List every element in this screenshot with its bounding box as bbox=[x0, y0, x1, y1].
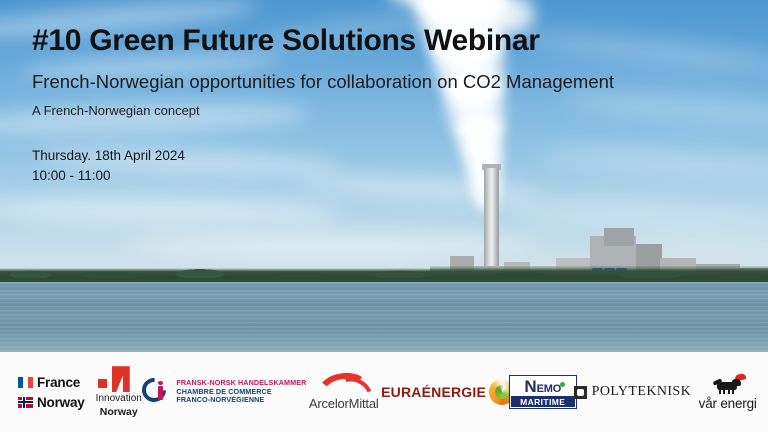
innovation-label: Innovation bbox=[96, 394, 142, 405]
nemo-maritime-box-icon: N EMO MARITIME bbox=[509, 375, 577, 409]
polyteknisk-square-icon bbox=[574, 386, 587, 399]
france-row: France bbox=[18, 375, 80, 390]
poster-concept: A French-Norwegian concept bbox=[32, 103, 692, 118]
innovation-norway-n-mark-icon bbox=[98, 366, 140, 392]
nemo-emo-letters: EMO bbox=[537, 384, 561, 395]
poster-subtitle: French-Norwegian opportunities for colla… bbox=[32, 71, 692, 93]
event-time: 10:00 - 11:00 bbox=[32, 168, 692, 183]
poster-text-block: #10 Green Future Solutions Webinar Frenc… bbox=[32, 24, 692, 183]
logo-nemo-maritime: N EMO MARITIME bbox=[508, 352, 577, 432]
arcelormittal-arc-icon bbox=[317, 373, 371, 395]
nemo-wordmark: N EMO bbox=[524, 378, 561, 395]
page-title: #10 Green Future Solutions Webinar bbox=[32, 24, 692, 57]
cci-line-3: FRANCO-NORVÉGIENNE bbox=[176, 396, 306, 405]
polyteknisk-label: POLYTEKNISK bbox=[592, 384, 691, 400]
logo-innovation-norway: Innovation Norway bbox=[88, 352, 149, 432]
maritime-label: MARITIME bbox=[511, 396, 575, 407]
norway-flag-icon bbox=[18, 397, 33, 408]
cci-monogram-icon bbox=[142, 378, 170, 406]
norway-label: Norway bbox=[37, 395, 85, 410]
france-flag-icon bbox=[18, 377, 33, 388]
partner-logo-bar: France Norway Innovation Norway bbox=[0, 352, 768, 432]
plant-building bbox=[604, 228, 634, 246]
cci-text-lines: FRANSK-NORSK HANDELSKAMMER CHAMBRE DE CO… bbox=[176, 379, 306, 406]
logo-var-energi: vår energi bbox=[687, 352, 768, 432]
logo-euraenergie: EURAÉNERGIE bbox=[388, 352, 508, 432]
nemo-green-dot-icon bbox=[560, 382, 565, 387]
logo-france-norway: France Norway bbox=[0, 352, 88, 432]
smokestack bbox=[484, 168, 499, 278]
lake-water bbox=[0, 282, 768, 352]
event-date: Thursday. 18th April 2024 bbox=[32, 148, 692, 163]
logo-polyteknisk: POLYTEKNISK bbox=[577, 352, 687, 432]
euraenergie-label: EURAÉNERGIE bbox=[381, 384, 486, 400]
france-label: France bbox=[37, 375, 80, 390]
eni-six-legged-dog-icon bbox=[713, 374, 743, 394]
webinar-poster: #10 Green Future Solutions Webinar Frenc… bbox=[0, 0, 768, 432]
norway-label: Norway bbox=[100, 407, 138, 418]
logo-fransk-norsk-handelskammer: FRANSK-NORSK HANDELSKAMMER CHAMBRE DE CO… bbox=[149, 352, 299, 432]
nemo-n-letter: N bbox=[524, 378, 536, 395]
logo-arcelormittal: ArcelorMittal bbox=[299, 352, 388, 432]
var-energi-label: vår energi bbox=[699, 396, 757, 411]
norway-row: Norway bbox=[18, 395, 85, 410]
